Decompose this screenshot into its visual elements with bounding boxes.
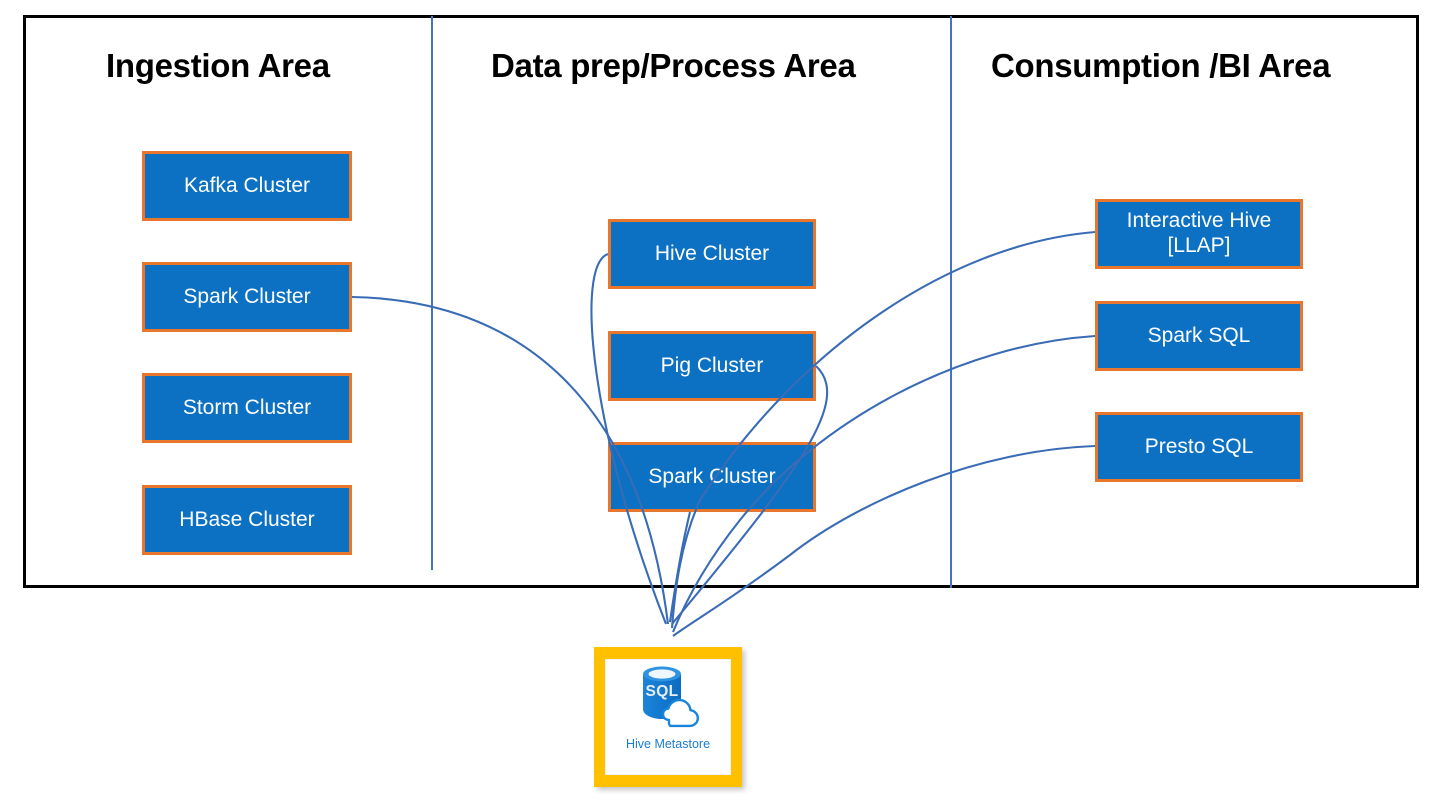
node-label: Kafka Cluster — [178, 174, 316, 199]
area-title-ingestion: Ingestion Area — [106, 47, 330, 85]
node-label: Storm Cluster — [177, 396, 317, 421]
node-hive-cluster[interactable]: Hive Cluster — [608, 219, 816, 289]
svg-text:SQL: SQL — [645, 683, 678, 700]
node-label: Presto SQL — [1139, 435, 1260, 460]
node-storm-cluster[interactable]: Storm Cluster — [142, 373, 352, 443]
area-title-dataprep: Data prep/Process Area — [491, 47, 856, 85]
area-divider-dataprep-consumption — [950, 16, 952, 588]
node-kafka-cluster[interactable]: Kafka Cluster — [142, 151, 352, 221]
node-spark-cluster-ingestion[interactable]: Spark Cluster — [142, 262, 352, 332]
node-spark-cluster-dataprep[interactable]: Spark Cluster — [608, 442, 816, 512]
node-label: Hive Cluster — [649, 242, 775, 267]
node-hbase-cluster[interactable]: HBase Cluster — [142, 485, 352, 555]
diagram-canvas: Ingestion Area Data prep/Process Area Co… — [0, 0, 1440, 802]
hive-metastore-inner-panel: SQL Hive Metastore — [605, 659, 731, 775]
node-label: Pig Cluster — [655, 354, 770, 379]
node-presto-cluster[interactable]: Presto SQL — [1095, 412, 1303, 482]
node-spark-sql[interactable]: Spark SQL — [1095, 301, 1303, 371]
azure-sql-database-icon: SQL — [625, 662, 711, 736]
node-interactive-hive-llap[interactable]: Interactive Hive[LLAP] — [1095, 199, 1303, 269]
hive-metastore-node[interactable]: SQL Hive Metastore — [594, 647, 742, 787]
node-label: HBase Cluster — [173, 508, 320, 533]
hive-metastore-label: Hive Metastore — [626, 737, 710, 751]
area-title-consumption: Consumption /BI Area — [991, 47, 1330, 85]
node-label: Interactive Hive[LLAP] — [1121, 209, 1278, 259]
node-label: Spark Cluster — [642, 465, 781, 490]
node-pig-cluster[interactable]: Pig Cluster — [608, 331, 816, 401]
node-label: Spark SQL — [1142, 324, 1257, 349]
node-label: Spark Cluster — [177, 285, 316, 310]
area-divider-ingestion-dataprep — [431, 16, 433, 570]
